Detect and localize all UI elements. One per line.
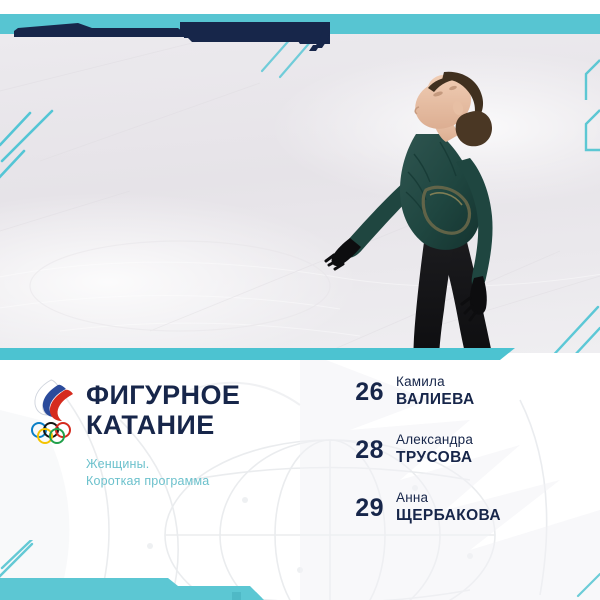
diagonal-slash-decorations — [0, 31, 600, 353]
roc-olympic-logo — [26, 376, 76, 448]
event-subtitle: Женщины. Короткая программа — [86, 456, 209, 490]
athlete-start-list: 26 Камила ВАЛИЕВА 28 Александра ТРУСОВА … — [340, 372, 590, 546]
start-number: 28 — [340, 436, 384, 465]
list-item[interactable]: 26 Камила ВАЛИЕВА — [340, 372, 590, 428]
athlete-last-name: ЩЕРБАКОВА — [396, 507, 501, 526]
athlete-name: Александра ТРУСОВА — [396, 432, 473, 467]
top-white-strip — [0, 0, 600, 14]
top-navy-accent-bar — [0, 20, 600, 52]
athlete-name: Анна ЩЕРБАКОВА — [396, 490, 501, 525]
bottom-decoration-bar — [0, 540, 600, 600]
corner-bracket-marks — [560, 48, 600, 178]
hero-photo-panel — [0, 31, 600, 353]
start-number: 26 — [340, 378, 384, 407]
athlete-last-name: ВАЛИЕВА — [396, 391, 475, 410]
logo-and-title-row: ФИГУРНОЕ КАТАНИЕ — [26, 374, 301, 452]
athlete-first-name: Александра — [396, 432, 473, 449]
brand-block: ФИГУРНОЕ КАТАНИЕ Женщины. Короткая прогр… — [26, 374, 301, 452]
athlete-first-name: Анна — [396, 490, 501, 507]
start-number: 29 — [340, 494, 384, 523]
athlete-first-name: Камила — [396, 374, 475, 391]
list-item[interactable]: 29 Анна ЩЕРБАКОВА — [340, 488, 590, 544]
athlete-last-name: ТРУСОВА — [396, 449, 473, 468]
athlete-name: Камила ВАЛИЕВА — [396, 374, 475, 409]
photo-bottom-accent-bar — [0, 348, 600, 360]
page-title: ФИГУРНОЕ КАТАНИЕ — [86, 380, 240, 440]
broadcast-graphic-card: ФИГУРНОЕ КАТАНИЕ Женщины. Короткая прогр… — [0, 0, 600, 600]
list-item[interactable]: 28 Александра ТРУСОВА — [340, 430, 590, 486]
